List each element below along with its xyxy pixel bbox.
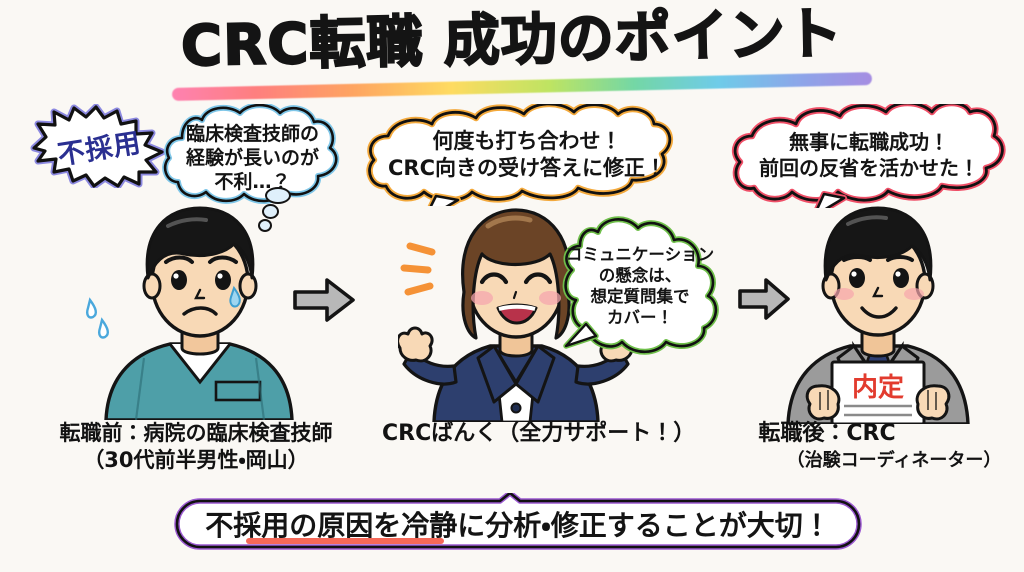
worried-technologist-illustration — [84, 196, 316, 420]
progress-arrow-2 — [738, 276, 790, 322]
caption-after-line-1: 転職後：CRC — [758, 420, 895, 449]
caption-before: 転職前：病院の臨床検査技師 （30代前半男性・岡山） — [6, 420, 386, 475]
caption-service: CRCばんく（全力サポート！） — [382, 420, 682, 449]
infographic-canvas: CRC転職 成功のポイント 不採用 臨床検査技師の 経験が長いのが 不利…？ — [0, 0, 1024, 572]
person-illustration-after: 内定 — [762, 196, 994, 424]
person-illustration-before — [84, 196, 316, 420]
speech-bubble-green: コミュニケーション の懸念は、 想定質問集で カバー！ — [560, 212, 720, 360]
caption-before-line-1: 転職前：病院の臨床検査技師 — [60, 420, 333, 447]
right-arrow-icon — [738, 276, 790, 322]
right-arrow-icon — [293, 276, 355, 324]
bubble-green-line-2: の懸念は、 — [599, 265, 682, 286]
status-badge-rejected: 不採用 — [26, 104, 172, 188]
bubble-center-line-2: CRC向きの受け答えに修正！ — [388, 155, 666, 182]
bubble-green-line-4: カバー！ — [607, 307, 673, 328]
caption-service-line-1: CRCばんく（全力サポート！） — [382, 420, 695, 449]
bubble-left-line-1: 臨床検査技師の — [186, 122, 319, 146]
page-title-text: CRC転職 成功のポイント — [181, 6, 844, 77]
bubble-green-line-1: コミュニケーション — [566, 244, 714, 265]
caption-after-line-2: （治験コーディネーター） — [787, 449, 1002, 472]
bubble-center-line-1: 何度も打ち合わせ！ — [433, 128, 622, 155]
offer-document-label: 内定 — [852, 373, 904, 403]
caption-before-line-2: （30代前半男性・岡山） — [83, 447, 308, 474]
bubble-right-line-1: 無事に転職成功！ — [789, 130, 949, 156]
summary-banner: 不採用の原因を冷静に分析・修正することが大切！ — [168, 493, 868, 555]
summary-banner-highlight — [246, 538, 444, 544]
speech-bubble-right: 無事に転職成功！ 前回の反省を活かせた！ — [728, 104, 1010, 208]
bubble-green-line-3: 想定質問集で — [591, 286, 690, 307]
caption-after: 転職後：CRC （治験コーディネーター） — [700, 420, 1018, 472]
progress-arrow-1 — [293, 276, 355, 324]
summary-banner-text: 不採用の原因を冷静に分析・修正することが大切！ — [168, 493, 868, 555]
successful-crc-illustration: 内定 — [762, 196, 994, 424]
bubble-right-line-2: 前回の反省を活かせた！ — [759, 156, 979, 182]
speech-bubble-center: 何度も打ち合わせ！ CRC向きの受け答えに修正！ — [362, 104, 692, 206]
bubble-left-line-2: 経験が長いのが — [186, 146, 319, 170]
